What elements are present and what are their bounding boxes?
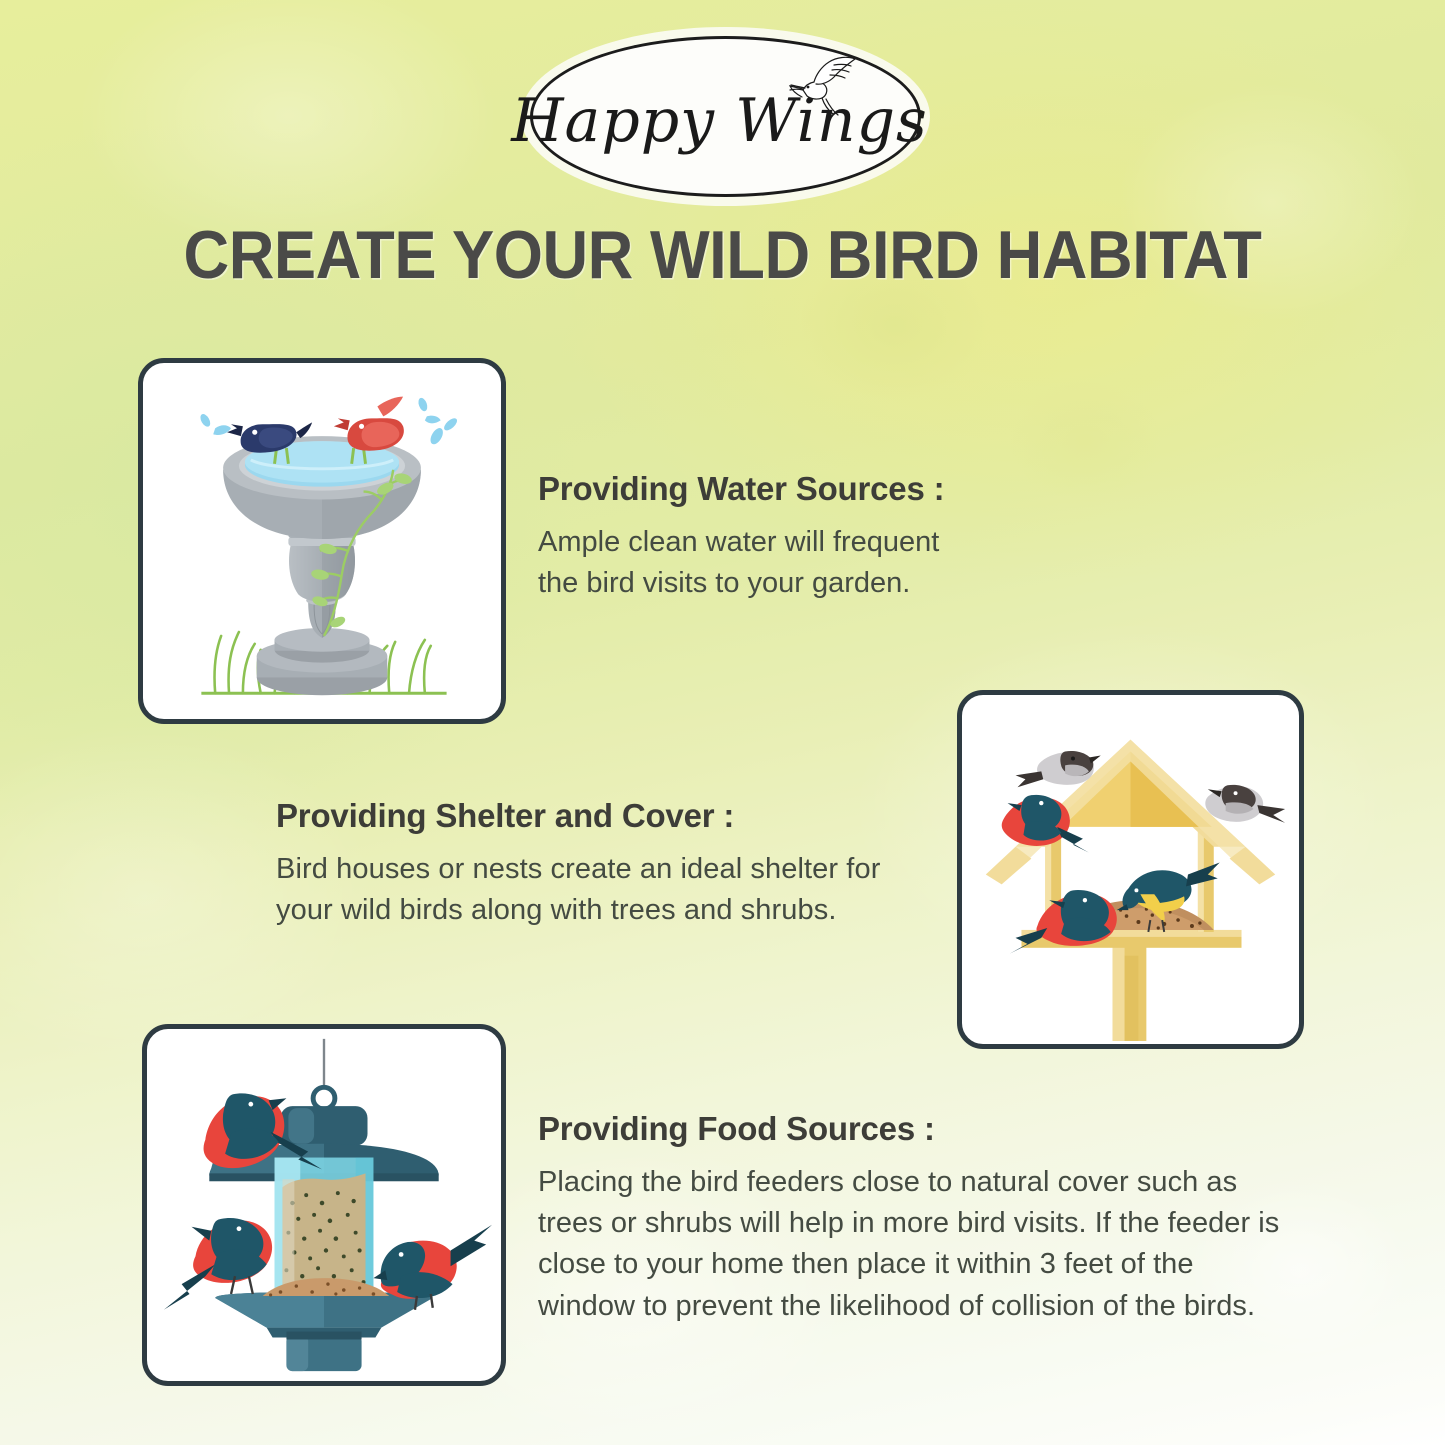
hanging-tube-feeder-illustration bbox=[147, 1029, 501, 1381]
section-food-heading: Providing Food Sources : bbox=[538, 1110, 1279, 1148]
background-blotch bbox=[560, 300, 680, 395]
body-line: your wild birds along with trees and shr… bbox=[276, 890, 880, 931]
hanging-feeder-illustration-card bbox=[142, 1024, 506, 1386]
body-line: close to your home then place it within … bbox=[538, 1244, 1279, 1285]
body-line: window to prevent the likelihood of coll… bbox=[538, 1286, 1279, 1327]
section-water: Providing Water Sources : Ample clean wa… bbox=[538, 470, 944, 604]
brand-logo: Happy Wings bbox=[530, 36, 921, 197]
background-blotch bbox=[1010, 380, 1160, 500]
section-food: Providing Food Sources : Placing the bir… bbox=[538, 1110, 1279, 1327]
body-line: Bird houses or nests create an ideal she… bbox=[276, 849, 880, 890]
section-food-body: Placing the bird feeders close to natura… bbox=[538, 1162, 1279, 1327]
bird-bath-illustration bbox=[143, 363, 501, 719]
page-title: CREATE YOUR WILD BIRD HABITAT bbox=[51, 216, 1395, 294]
bird-house-illustration-card bbox=[957, 690, 1304, 1049]
body-line: trees or shrubs will help in more bird v… bbox=[538, 1203, 1279, 1244]
section-shelter: Providing Shelter and Cover : Bird house… bbox=[276, 797, 880, 931]
body-line: Placing the bird feeders close to natura… bbox=[538, 1162, 1279, 1203]
brand-logo-text: Happy Wings bbox=[511, 86, 928, 156]
hummingbird-icon bbox=[772, 53, 864, 127]
section-shelter-heading: Providing Shelter and Cover : bbox=[276, 797, 880, 835]
section-water-heading: Providing Water Sources : bbox=[538, 470, 944, 508]
section-water-body: Ample clean water will frequent the bird… bbox=[538, 522, 944, 604]
bird-house-feeder-illustration bbox=[962, 695, 1299, 1044]
body-line: Ample clean water will frequent bbox=[538, 522, 944, 563]
body-line: the bird visits to your garden. bbox=[538, 563, 944, 604]
chickadee-right bbox=[1205, 785, 1285, 823]
bird-bath-illustration-card bbox=[138, 358, 506, 724]
tube-seed bbox=[282, 1173, 365, 1294]
section-shelter-body: Bird houses or nests create an ideal she… bbox=[276, 849, 880, 931]
